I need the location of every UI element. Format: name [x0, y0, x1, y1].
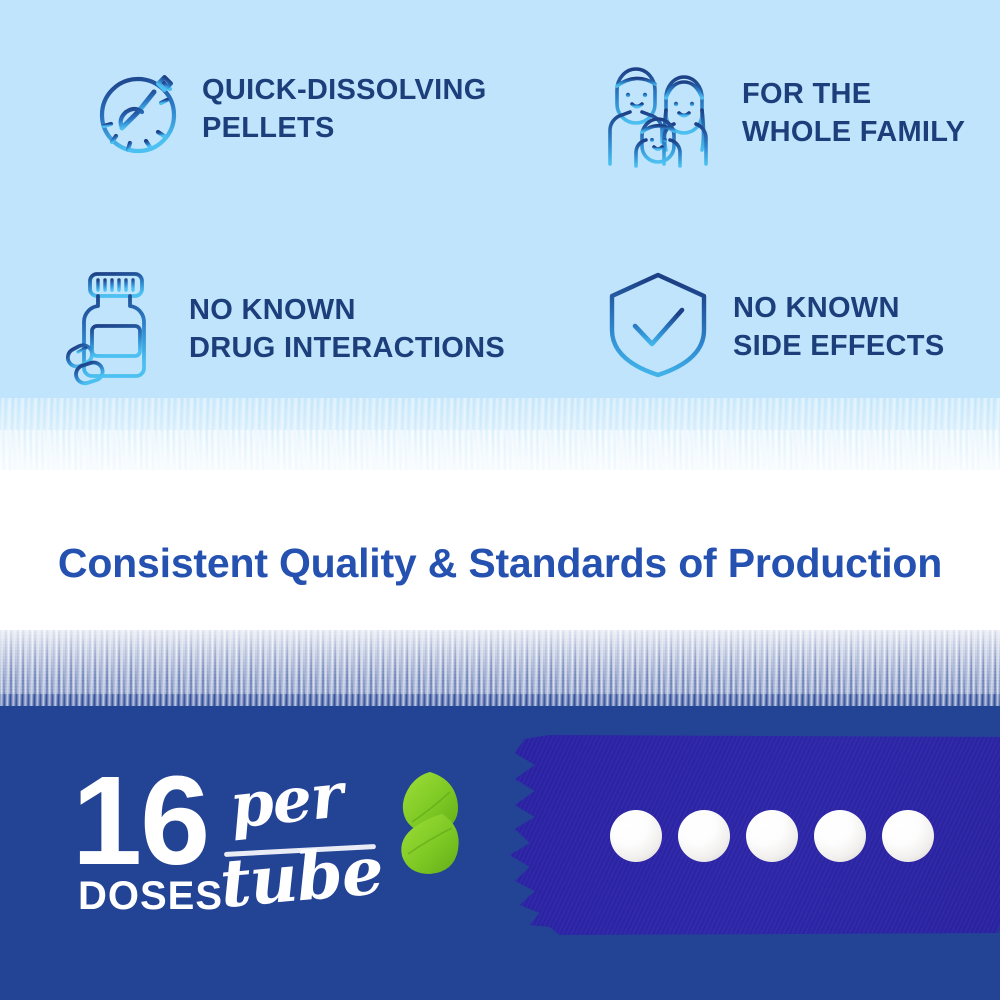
- shield-check-icon: [605, 268, 711, 387]
- feature-no-drug-interactions: NO KNOWN DRUG INTERACTIONS: [62, 268, 505, 391]
- feature-whole-family: FOR THE WHOLE FAMILY: [600, 52, 965, 175]
- family-icon: [600, 52, 720, 175]
- feature-no-side-effects: NO KNOWN SIDE EFFECTS: [605, 268, 944, 387]
- mint-leaf-icon: [372, 770, 464, 885]
- feature-label: NO KNOWN DRUG INTERACTIONS: [189, 292, 505, 366]
- pellet-sphere-icon: [746, 810, 798, 862]
- feature-quick-dissolving: QUICK-DISSOLVING PELLETS: [70, 52, 487, 167]
- feature-label: FOR THE WHOLE FAMILY: [742, 76, 965, 150]
- pellet-sphere-icon: [678, 810, 730, 862]
- pellet-sphere-icon: [882, 810, 934, 862]
- pellet-row: [610, 810, 934, 862]
- pellet-sphere-icon: [610, 810, 662, 862]
- feature-label: NO KNOWN SIDE EFFECTS: [733, 290, 944, 364]
- stopwatch-icon: [70, 52, 180, 167]
- product-infographic: QUICK-DISSOLVING PELLETS: [0, 0, 1000, 1000]
- feature-label: QUICK-DISSOLVING PELLETS: [202, 72, 487, 146]
- dose-unit-label: DOSES: [78, 874, 223, 919]
- dose-callout: 16 DOSES per tube: [72, 762, 492, 937]
- script-per: per: [226, 758, 345, 842]
- quality-banner-title: Consistent Quality & Standards of Produc…: [0, 540, 1000, 587]
- script-tube: tube: [217, 831, 386, 923]
- pill-bottle-icon: [62, 268, 167, 391]
- dose-count: 16: [72, 758, 208, 884]
- feature-grid: QUICK-DISSOLVING PELLETS: [0, 0, 1000, 430]
- pellet-sphere-icon: [814, 810, 866, 862]
